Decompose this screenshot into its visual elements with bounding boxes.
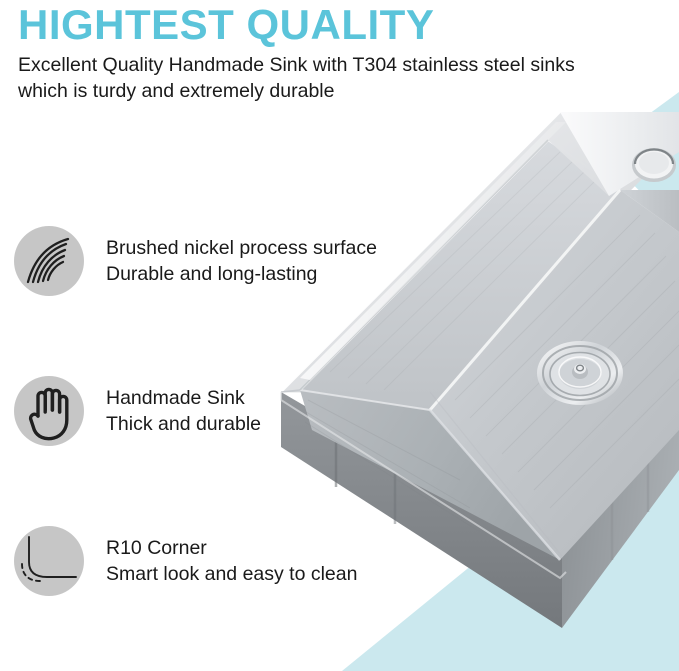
hand-icon: [14, 376, 84, 446]
feature-list: Brushed nickel process surface Durable a…: [0, 186, 420, 636]
infographic-page: HIGHTEST QUALITY Excellent Quality Handm…: [0, 0, 679, 671]
feature-item-r10-corner: R10 Corner Smart look and easy to clean: [0, 486, 420, 636]
feature-text: Brushed nickel process surface Durable a…: [106, 235, 377, 287]
feature-item-brushed-nickel: Brushed nickel process surface Durable a…: [0, 186, 420, 336]
header: HIGHTEST QUALITY Excellent Quality Handm…: [18, 2, 618, 104]
feature-line-2: Smart look and easy to clean: [106, 561, 357, 587]
feature-text: R10 Corner Smart look and easy to clean: [106, 535, 357, 587]
feature-item-handmade: Handmade Sink Thick and durable: [0, 336, 420, 486]
feature-line-1: Brushed nickel process surface: [106, 235, 377, 261]
feature-line-2: Durable and long-lasting: [106, 261, 377, 287]
feature-text: Handmade Sink Thick and durable: [106, 385, 261, 437]
rounded-corner-icon: [14, 526, 84, 596]
page-title: HIGHTEST QUALITY: [18, 2, 618, 48]
feature-line-2: Thick and durable: [106, 411, 261, 437]
brush-strokes-icon: [14, 226, 84, 296]
page-subtitle: Excellent Quality Handmade Sink with T30…: [18, 53, 578, 104]
feature-line-1: Handmade Sink: [106, 385, 261, 411]
feature-line-1: R10 Corner: [106, 535, 357, 561]
